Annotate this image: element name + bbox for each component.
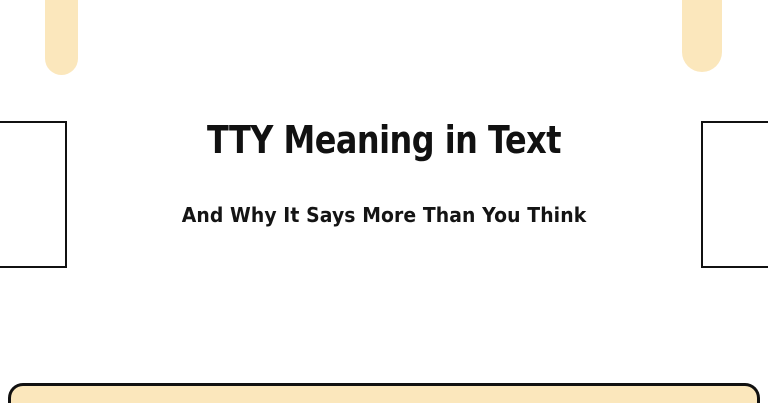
slide-canvas: TTY Meaning in Text And Why It Says More… xyxy=(0,0,768,403)
heading-block: TTY Meaning in Text And Why It Says More… xyxy=(0,118,768,228)
page-title: TTY Meaning in Text xyxy=(61,118,706,162)
page-subtitle: And Why It Says More Than You Think xyxy=(23,162,745,228)
bottom-cream-card-decoration xyxy=(8,383,760,403)
right-cream-bar-decoration xyxy=(682,0,722,72)
left-cream-bar-decoration xyxy=(45,0,78,75)
